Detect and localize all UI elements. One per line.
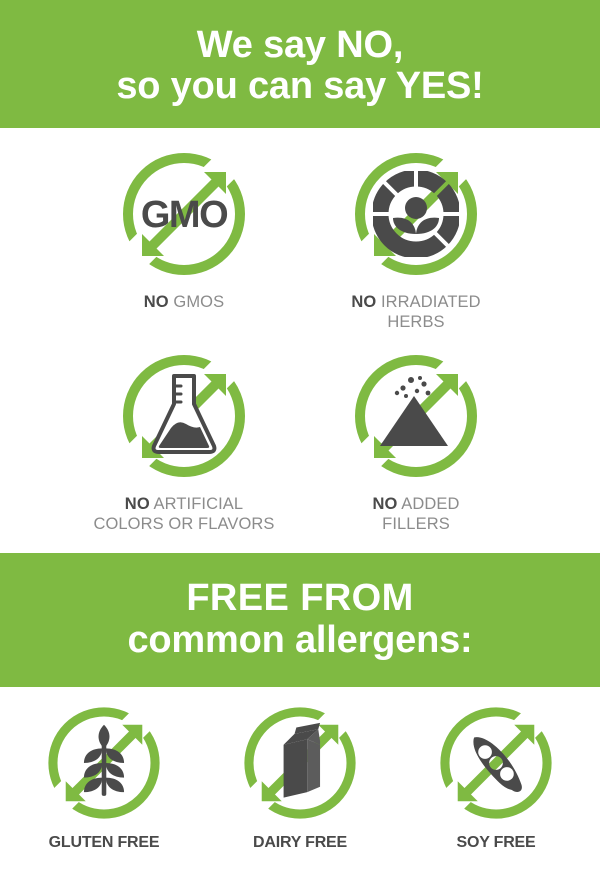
headline-allergens-line2: common allergens:: [127, 620, 472, 661]
no-claim-text-line2: COLORS OR FLAVORS: [93, 515, 274, 533]
headline-banner-top: We say NO, so you can say YES!: [0, 0, 600, 128]
no-claim-text-line1: ARTIFICIAL: [154, 495, 244, 513]
no-prefix: NO: [125, 495, 150, 513]
no-claim-text-line1: IRRADIATED: [381, 293, 481, 311]
no-prefix: NO: [373, 495, 398, 513]
dairy-free-carton-icon: [238, 701, 362, 825]
gluten-free-wheat-icon: [42, 701, 166, 825]
soy-free-soybean-icon: [434, 701, 558, 825]
headline-top-line1: We say NO,: [197, 25, 403, 66]
allergen-claim-dairy: DAIRY FREE: [202, 701, 398, 852]
allergen-claim-soy: SOY FREE: [398, 701, 594, 852]
no-claim-text-line1: GMOS: [173, 293, 224, 311]
no-claim-irradiated-herbs-label: NO IRRADIATED HERBS: [351, 292, 480, 332]
no-added-fillers-icon: [348, 348, 484, 484]
no-irradiated-herbs-icon: [348, 146, 484, 282]
no-claim-text-line2: FILLERS: [382, 515, 450, 533]
allergen-claim-soy-label: SOY FREE: [456, 834, 535, 852]
no-claim-gmo-label: NO GMOS: [144, 292, 224, 312]
no-claim-added-fillers: NO ADDED FILLERS: [300, 348, 532, 534]
allergen-claim-dairy-label: DAIRY FREE: [253, 834, 347, 852]
no-gmo-icon: GMO: [116, 146, 252, 282]
no-claim-gmo: GMO NO GMOS: [68, 146, 300, 312]
no-claim-text-line2: HERBS: [387, 313, 444, 331]
allergen-claim-gluten-label: GLUTEN FREE: [49, 834, 160, 852]
allergen-claims-row: GLUTEN FREE: [0, 687, 600, 852]
allergen-claim-gluten: GLUTEN FREE: [6, 701, 202, 852]
no-claim-irradiated-herbs: NO IRRADIATED HERBS: [300, 146, 532, 332]
gmo-icon-text: GMO: [141, 194, 227, 236]
headline-allergens-line1: FREE FROM: [186, 578, 413, 619]
no-claim-added-fillers-label: NO ADDED FILLERS: [373, 494, 460, 534]
no-claims-section: GMO NO GMOS: [0, 128, 600, 541]
headline-top-line2: so you can say YES!: [116, 66, 483, 107]
no-claims-row-1: GMO NO GMOS: [0, 146, 600, 332]
no-prefix: NO: [144, 293, 169, 311]
no-claim-artificial-colors: NO ARTIFICIAL COLORS OR FLAVORS: [68, 348, 300, 534]
headline-banner-allergens: FREE FROM common allergens:: [0, 553, 600, 687]
no-artificial-colors-flask-icon: [116, 348, 252, 484]
no-claim-text-line1: ADDED: [401, 495, 459, 513]
no-claims-row-2: NO ARTIFICIAL COLORS OR FLAVORS: [0, 348, 600, 534]
no-prefix: NO: [351, 293, 376, 311]
no-claim-artificial-colors-label: NO ARTIFICIAL COLORS OR FLAVORS: [93, 494, 274, 534]
